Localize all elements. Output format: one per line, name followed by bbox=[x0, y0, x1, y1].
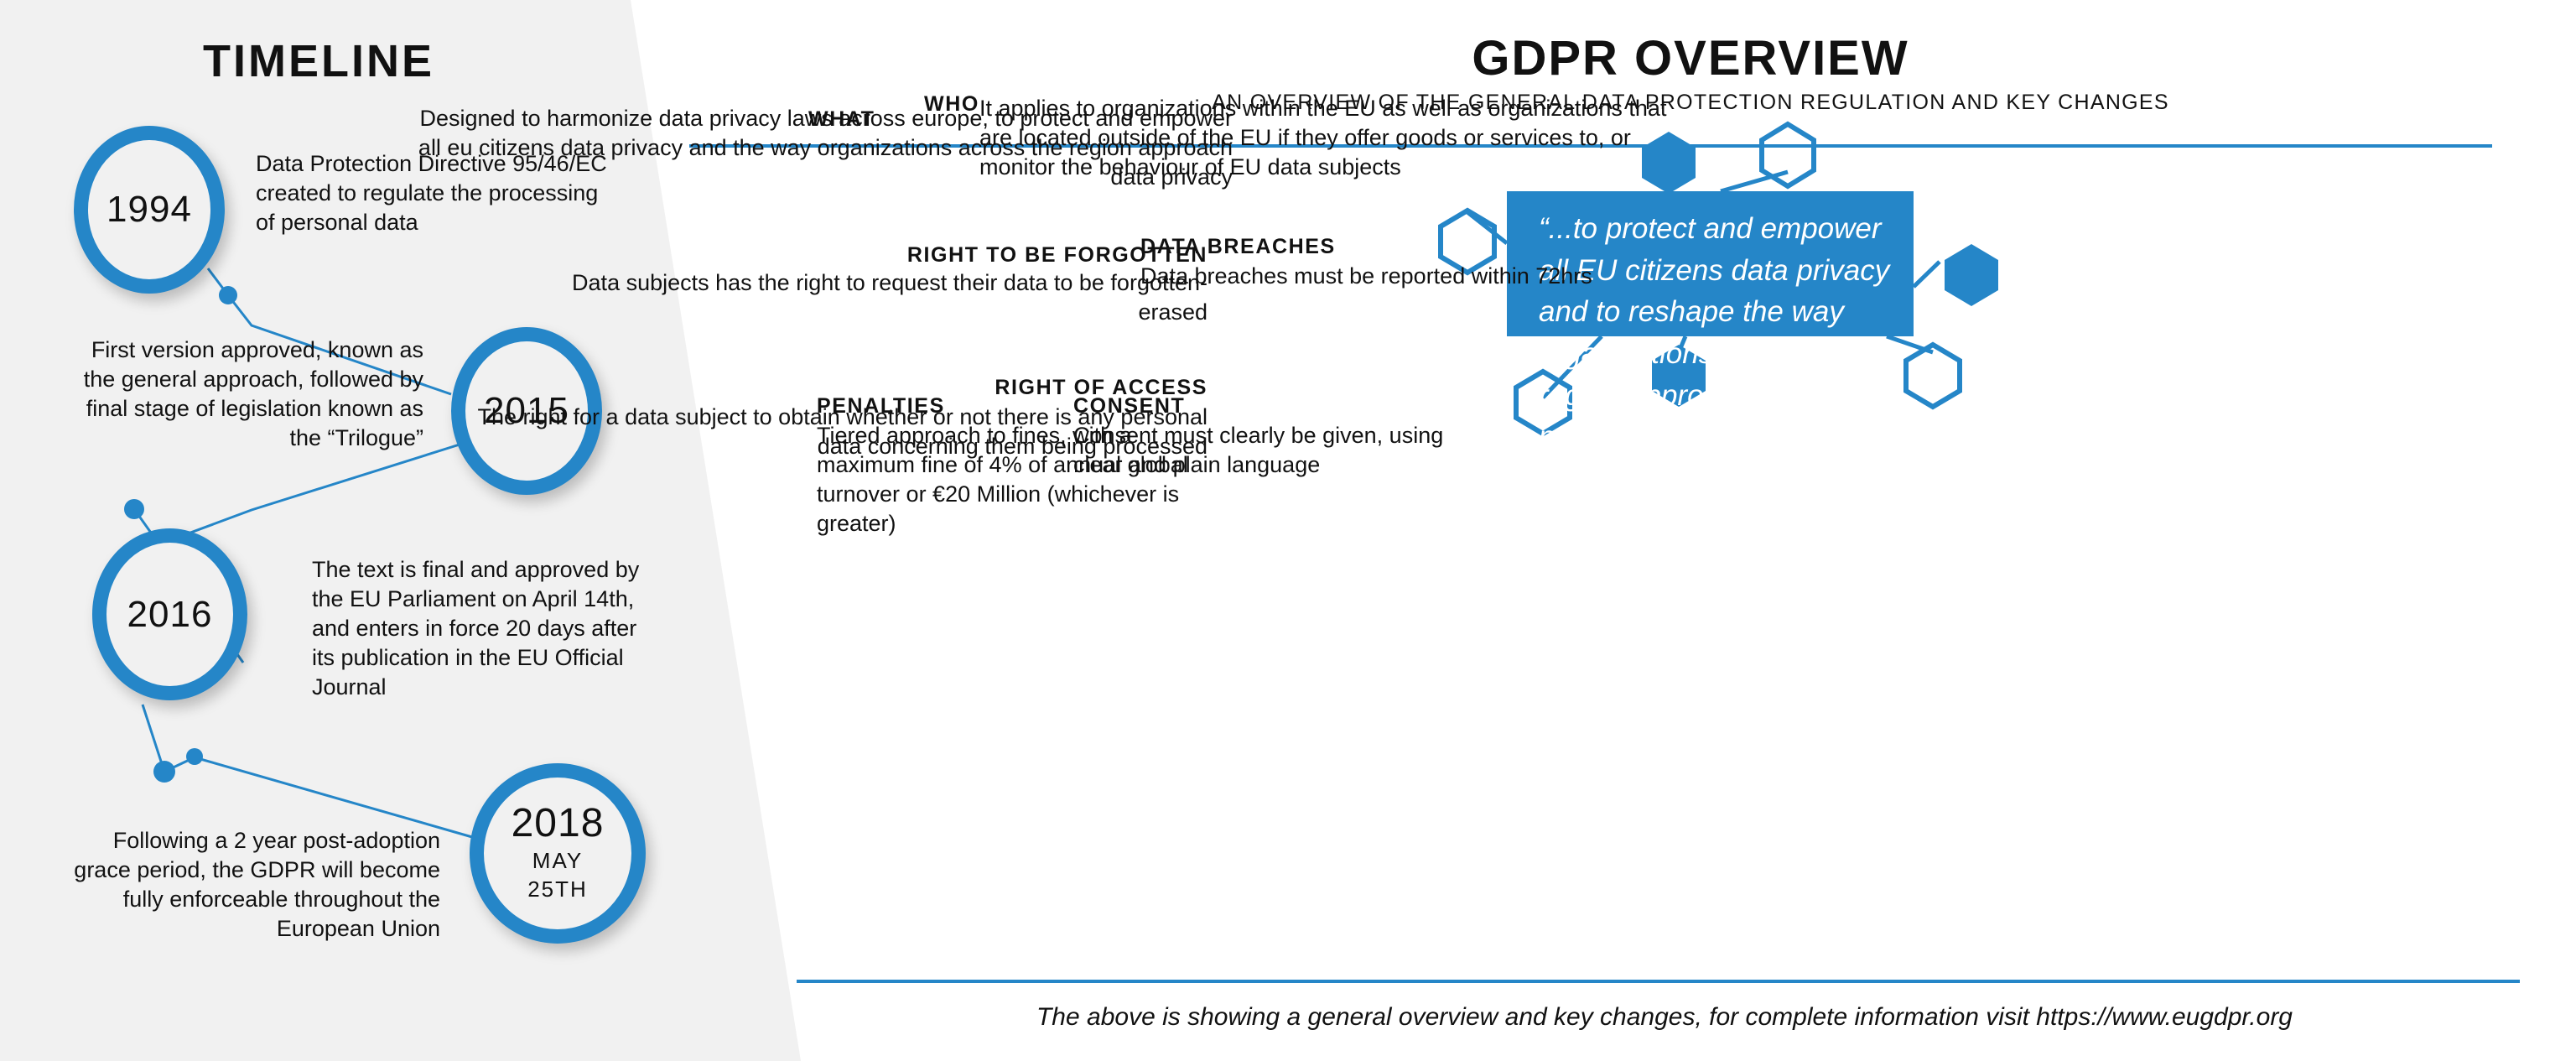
label-data-breaches: DATA BREACHES bbox=[1140, 235, 1644, 259]
page-title: GDPR OVERVIEW bbox=[805, 30, 2576, 86]
overview-panel: GDPR OVERVIEW AN OVERVIEW OF THE GENERAL… bbox=[805, 0, 2576, 1061]
hex-consent bbox=[1906, 345, 1960, 407]
timeline-node-2016[interactable]: 2016 bbox=[92, 528, 247, 700]
timeline-text-2018: Following a 2 year post-adoption grace p… bbox=[67, 826, 440, 944]
body-consent: Consent must clearly be given, using cle… bbox=[1073, 421, 1493, 480]
timeline-year-1994: 1994 bbox=[106, 191, 192, 228]
timeline-text-2015: First version approved, known as the gen… bbox=[59, 335, 423, 453]
infographic-page: TIMELINE 1994 Data Protection Directive … bbox=[0, 0, 2576, 1061]
footer-note: The above is showing a general overview … bbox=[805, 1003, 2524, 1032]
timeline-day-2018: 25TH bbox=[527, 876, 588, 904]
label-consent: CONSENT bbox=[1073, 394, 1493, 419]
timeline-year-2016: 2016 bbox=[127, 596, 213, 633]
timeline-month-2018: MAY bbox=[532, 847, 583, 876]
timeline-node-1994[interactable]: 1994 bbox=[74, 126, 225, 294]
hex-data-breaches bbox=[1945, 244, 1998, 306]
timeline-node-2018[interactable]: 2018 MAY 25TH bbox=[470, 763, 646, 944]
body-who: It applies to organizations within the E… bbox=[979, 94, 1692, 182]
divider-bottom bbox=[797, 980, 2520, 983]
timeline-year-2018: 2018 bbox=[512, 804, 605, 844]
label-right-to-be-forgotten: RIGHT TO BE FORGOTTEN bbox=[503, 243, 1207, 268]
timeline-text-2016: The text is final and approved by the EU… bbox=[312, 555, 647, 702]
hex-who bbox=[1762, 124, 1814, 186]
body-data-breaches: Data breaches must be reported within 72… bbox=[1140, 262, 1644, 291]
body-right-to-be-forgotten: Data subjects has the right to request t… bbox=[503, 268, 1207, 327]
